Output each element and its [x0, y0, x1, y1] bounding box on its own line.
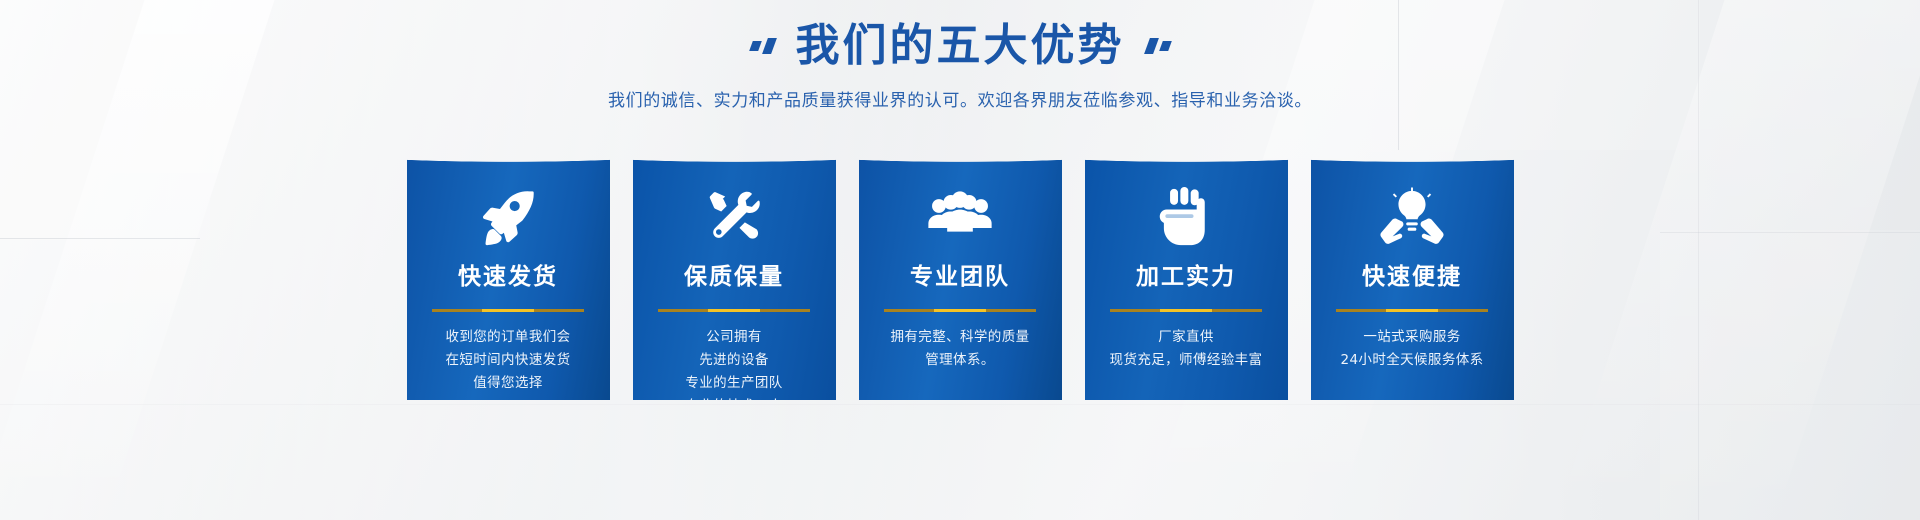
- rocket-icon: [407, 186, 610, 248]
- background-line-5: [0, 404, 1920, 405]
- card-divider: [432, 309, 584, 312]
- card-description: 厂家直供 现货充足，师傅经验丰富: [1085, 326, 1288, 372]
- left-dash-ornament-icon: [751, 38, 774, 54]
- right-dash-ornament-icon: [1147, 38, 1170, 54]
- card-divider: [1336, 309, 1488, 312]
- section-header: 我们的五大优势 我们的诚信、实力和产品质量获得业界的认可。欢迎各界朋友莅临参观、…: [0, 18, 1920, 111]
- card-description-line: 厂家直供: [1085, 326, 1288, 349]
- advantage-card-fast-convenient[interactable]: 快速便捷 一站式采购服务 24小时全天候服务体系: [1311, 138, 1514, 400]
- card-description: 收到您的订单我们会 在短时间内快速发货 值得您选择: [407, 326, 610, 396]
- advantage-card-professional-team[interactable]: 专业团队 拥有完整、科学的质量 管理体系。: [859, 138, 1062, 400]
- wrench-screwdriver-icon: [633, 186, 836, 248]
- advantage-card-processing-capability[interactable]: 加工实力 厂家直供 现货充足，师傅经验丰富: [1085, 138, 1288, 400]
- card-description-line: 现货充足，师傅经验丰富: [1085, 349, 1288, 372]
- card-description-line: 值得您选择: [407, 372, 610, 395]
- card-description-line: 专业的生产团队: [633, 372, 836, 395]
- card-description-line: 24小时全天候服务体系: [1311, 349, 1514, 372]
- card-description-line: 收到您的订单我们会: [407, 326, 610, 349]
- card-description-line: 在短时间内快速发货: [407, 349, 610, 372]
- advantage-card-fast-shipping[interactable]: 快速发货 收到您的订单我们会 在短时间内快速发货 值得您选择: [407, 138, 610, 400]
- card-title: 专业团队: [859, 264, 1062, 292]
- page-subtitle: 我们的诚信、实力和产品质量获得业界的认可。欢迎各界朋友莅临参观、指导和业务洽谈。: [0, 86, 1920, 111]
- card-description-line: 先进的设备: [633, 349, 836, 372]
- advantages-card-list: 快速发货 收到您的订单我们会 在短时间内快速发货 值得您选择 保质保量 公司拥有…: [0, 138, 1920, 400]
- team-people-icon: [859, 186, 1062, 248]
- card-divider: [884, 309, 1036, 312]
- title-row: 我们的五大优势: [0, 18, 1920, 73]
- card-divider: [658, 309, 810, 312]
- fist-hand-icon: [1085, 186, 1288, 248]
- card-title: 保质保量: [633, 264, 836, 292]
- page-title: 我们的五大优势: [796, 18, 1125, 73]
- card-description-line: 公司拥有: [633, 326, 836, 349]
- card-description-line: 拥有完整、科学的质量: [859, 326, 1062, 349]
- card-description: 拥有完整、科学的质量 管理体系。: [859, 326, 1062, 372]
- card-description: 一站式采购服务 24小时全天候服务体系: [1311, 326, 1514, 372]
- card-divider: [1110, 309, 1262, 312]
- hands-lightbulb-icon: [1311, 186, 1514, 248]
- card-description-line: 管理体系。: [859, 349, 1062, 372]
- card-title: 快速便捷: [1311, 264, 1514, 292]
- card-title: 快速发货: [407, 264, 610, 292]
- advantage-card-quality-assurance[interactable]: 保质保量 公司拥有 先进的设备 专业的生产团队 专业的技术工人: [633, 138, 836, 400]
- card-description-line: 一站式采购服务: [1311, 326, 1514, 349]
- card-title: 加工实力: [1085, 264, 1288, 292]
